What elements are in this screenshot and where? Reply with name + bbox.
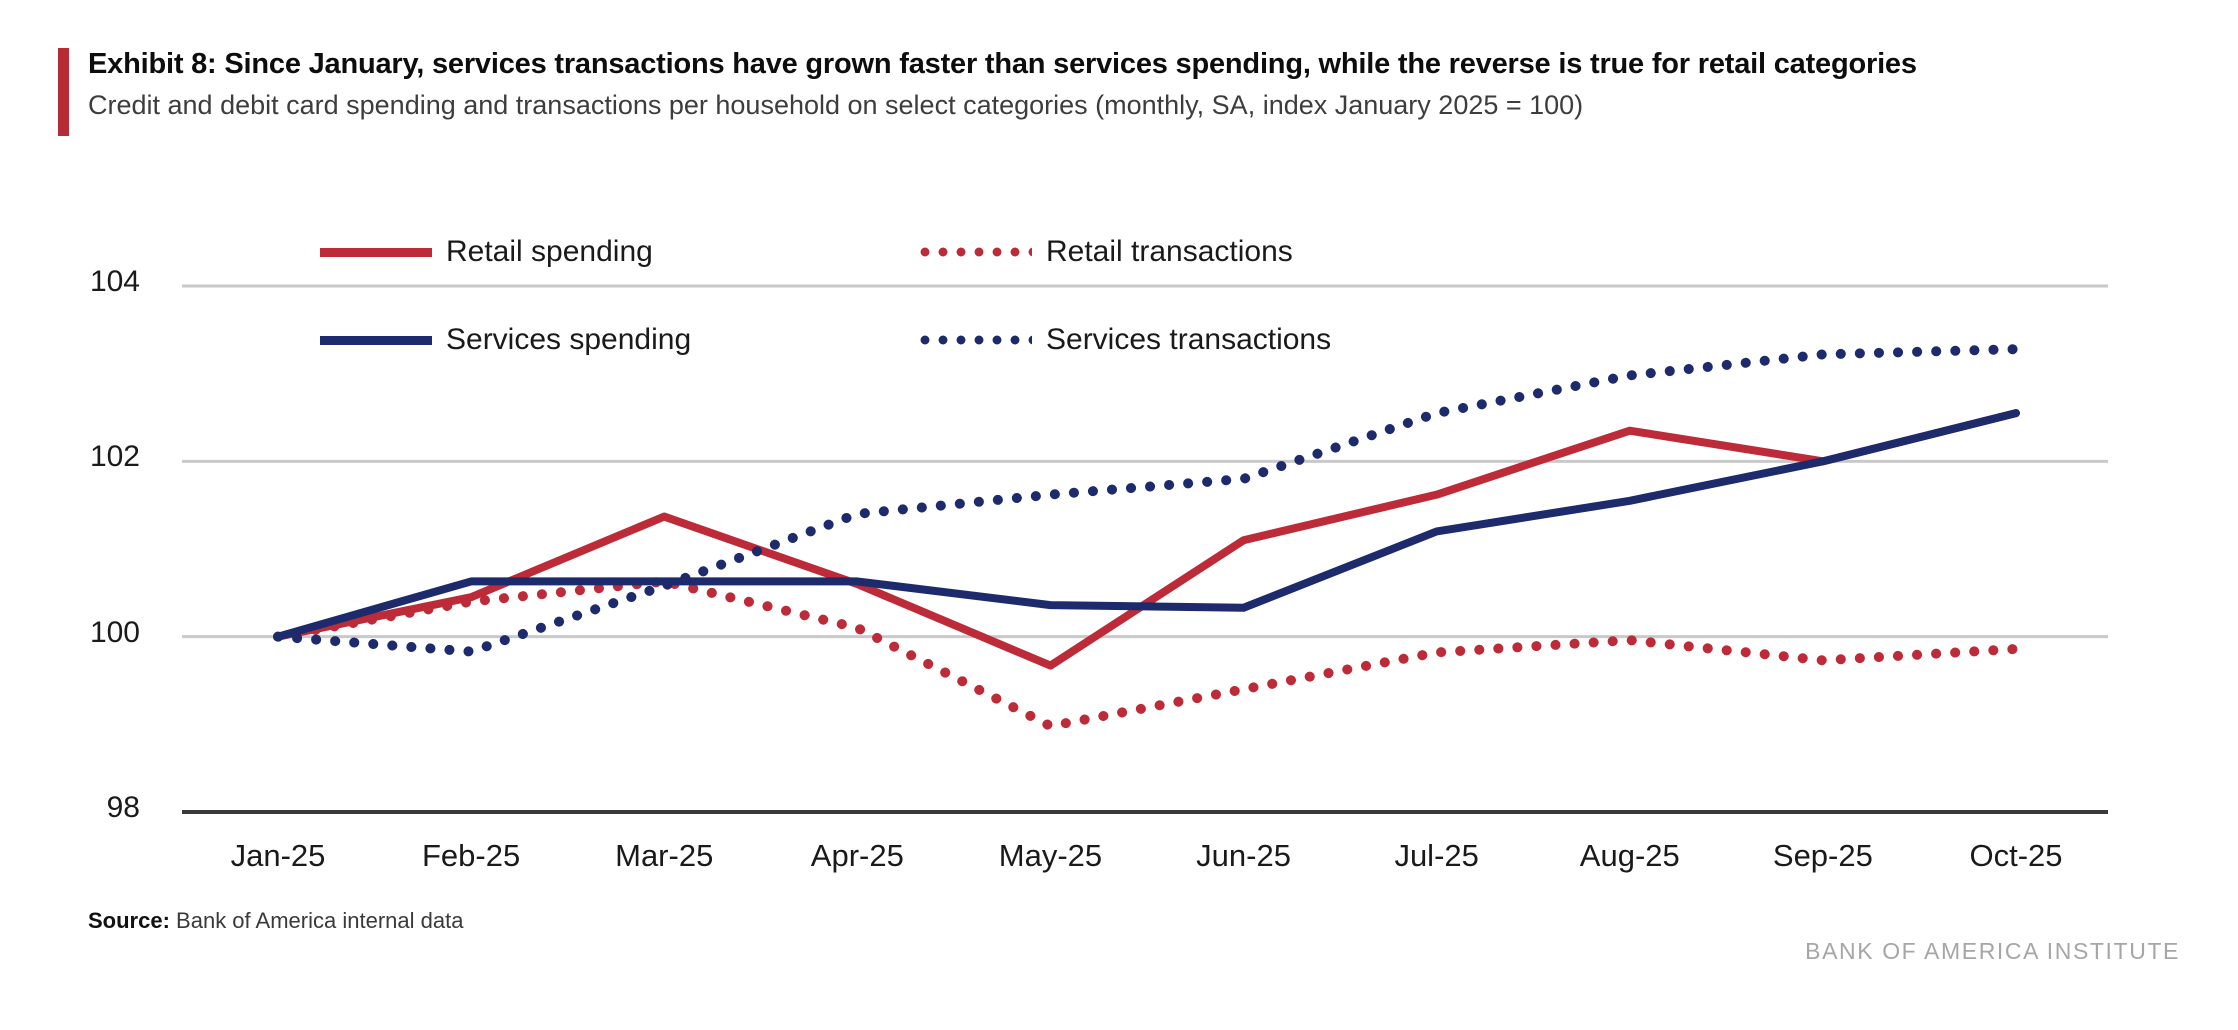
y-tick-label-102: 102 (10, 440, 140, 474)
legend-label-retail-transactions: Retail transactions (1046, 235, 1293, 269)
x-tick-label-oct-25: Oct-25 (1969, 838, 2062, 874)
accent-bar (58, 48, 69, 136)
x-tick-label-may-25: May-25 (999, 838, 1102, 874)
source-label: Source: (88, 908, 170, 933)
exhibit-page: Exhibit 8: Since January, services trans… (0, 0, 2238, 1030)
legend-row-1: Retail spending Retail transactions (320, 208, 1440, 296)
series-line-retail-transactions (278, 581, 2016, 726)
legend-item-services-transactions[interactable]: Services transactions (920, 323, 1440, 357)
x-tick-label-sep-25: Sep-25 (1773, 838, 1873, 874)
chart-header: Exhibit 8: Since January, services trans… (58, 46, 2178, 123)
legend-label-retail-spending: Retail spending (446, 235, 653, 269)
legend-swatch-dotted-red-icon (920, 247, 1032, 257)
legend-item-services-spending[interactable]: Services spending (320, 323, 920, 357)
x-tick-label-jan-25: Jan-25 (231, 838, 326, 874)
y-tick-label-104: 104 (10, 265, 140, 299)
legend-swatch-solid-navy-icon (320, 336, 432, 345)
page-title: Exhibit 8: Since January, services trans… (88, 46, 2178, 83)
x-tick-label-apr-25: Apr-25 (811, 838, 904, 874)
source-note: Source: Bank of America internal data (88, 908, 463, 934)
page-subtitle: Credit and debit card spending and trans… (88, 89, 2178, 123)
x-tick-label-jun-25: Jun-25 (1196, 838, 1291, 874)
legend-label-services-transactions: Services transactions (1046, 323, 1331, 357)
chart-legend: Retail spending Retail transactions Serv… (320, 208, 1440, 384)
legend-row-2: Services spending Services transactions (320, 296, 1440, 384)
series-line-retail-spending (278, 413, 2016, 665)
x-tick-label-jul-25: Jul-25 (1394, 838, 1478, 874)
series-line-services-transactions (278, 349, 2016, 651)
brand-wordmark: BANK OF AMERICA INSTITUTE (1805, 938, 2180, 965)
x-tick-label-aug-25: Aug-25 (1580, 838, 1680, 874)
x-tick-label-feb-25: Feb-25 (422, 838, 520, 874)
legend-swatch-dotted-navy-icon (920, 335, 1032, 345)
source-text: Bank of America internal data (176, 908, 463, 933)
chart-plot-area (0, 0, 2238, 1030)
legend-item-retail-transactions[interactable]: Retail transactions (920, 235, 1440, 269)
legend-label-services-spending: Services spending (446, 323, 691, 357)
series-line-services-spending (278, 413, 2016, 637)
legend-swatch-solid-red-icon (320, 248, 432, 257)
y-tick-label-100: 100 (10, 616, 140, 650)
line-chart-svg (0, 0, 2238, 1030)
x-tick-label-mar-25: Mar-25 (615, 838, 713, 874)
legend-item-retail-spending[interactable]: Retail spending (320, 235, 920, 269)
y-tick-label-98: 98 (10, 791, 140, 825)
